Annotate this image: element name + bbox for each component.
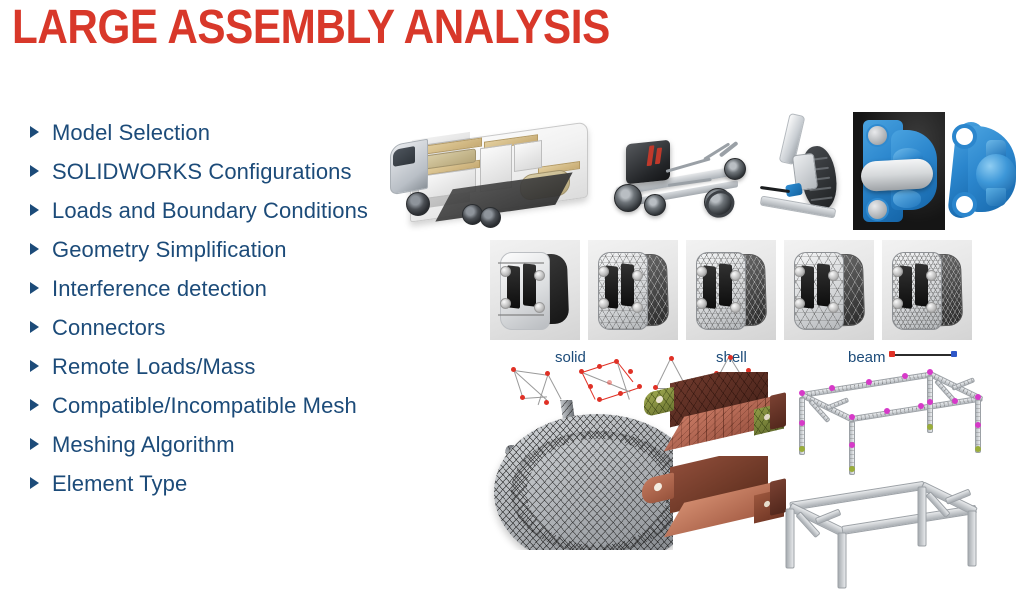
triangle-right-icon [30,126,52,140]
caliper-mesh-progression [490,240,970,340]
brake-caliper-solid [490,240,580,340]
list-item-label: SOLIDWORKS Configurations [52,161,352,183]
list-item[interactable]: Model Selection [30,122,430,161]
list-item-label: Element Type [52,473,187,495]
ball-joint-bracket-white-figure [946,112,1024,230]
list-item-label: Loads and Boundary Conditions [52,200,368,222]
page-title: LARGE ASSEMBLY ANALYSIS [12,4,610,52]
list-item-label: Meshing Algorithm [52,434,235,456]
list-item[interactable]: SOLIDWORKS Configurations [30,161,430,200]
brake-caliper-mesh-2 [686,240,776,340]
vehicle-chassis-figure [608,118,753,230]
triangle-right-icon [30,243,52,257]
ball-joint-bracket-dark-figure [853,112,945,230]
triangle-right-icon [30,438,52,452]
triangle-right-icon [30,477,52,491]
triangle-right-icon [30,360,52,374]
figure-stage: solid shell beam [380,100,1024,560]
beam-frame-solid-figure [768,472,984,572]
triangle-right-icon [30,282,52,296]
beam-element-glyph [888,348,964,362]
list-item[interactable]: Connectors [30,317,430,356]
triangle-right-icon [30,165,52,179]
list-item-label: Connectors [52,317,166,339]
bullet-list: Model Selection SOLIDWORKS Configuration… [30,122,430,512]
sheet-metal-bracket-meshed-figure [642,372,802,454]
list-item-label: Remote Loads/Mass [52,356,255,378]
list-item[interactable]: Compatible/Incompatible Mesh [30,395,430,434]
list-item[interactable]: Loads and Boundary Conditions [30,200,430,239]
list-item[interactable]: Element Type [30,473,430,512]
list-item[interactable]: Meshing Algorithm [30,434,430,473]
rv-cutaway-figure [388,112,600,232]
triangle-right-icon [30,321,52,335]
triangle-right-icon [30,204,52,218]
beam-frame-meshed-figure [780,362,990,458]
brake-caliper-mesh-1 [588,240,678,340]
slide-root: LARGE ASSEMBLY ANALYSIS Model Selection … [0,0,1024,560]
list-item-label: Compatible/Incompatible Mesh [52,395,357,417]
list-item[interactable]: Geometry Simplification [30,239,430,278]
list-item-label: Geometry Simplification [52,239,287,261]
brake-caliper-mesh-4 [882,240,972,340]
list-item[interactable]: Remote Loads/Mass [30,356,430,395]
list-item[interactable]: Interference detection [30,278,430,317]
list-item-label: Model Selection [52,122,210,144]
triangle-right-icon [30,399,52,413]
suspension-knuckle-figure [758,110,854,232]
list-item-label: Interference detection [52,278,267,300]
brake-caliper-mesh-3 [784,240,874,340]
